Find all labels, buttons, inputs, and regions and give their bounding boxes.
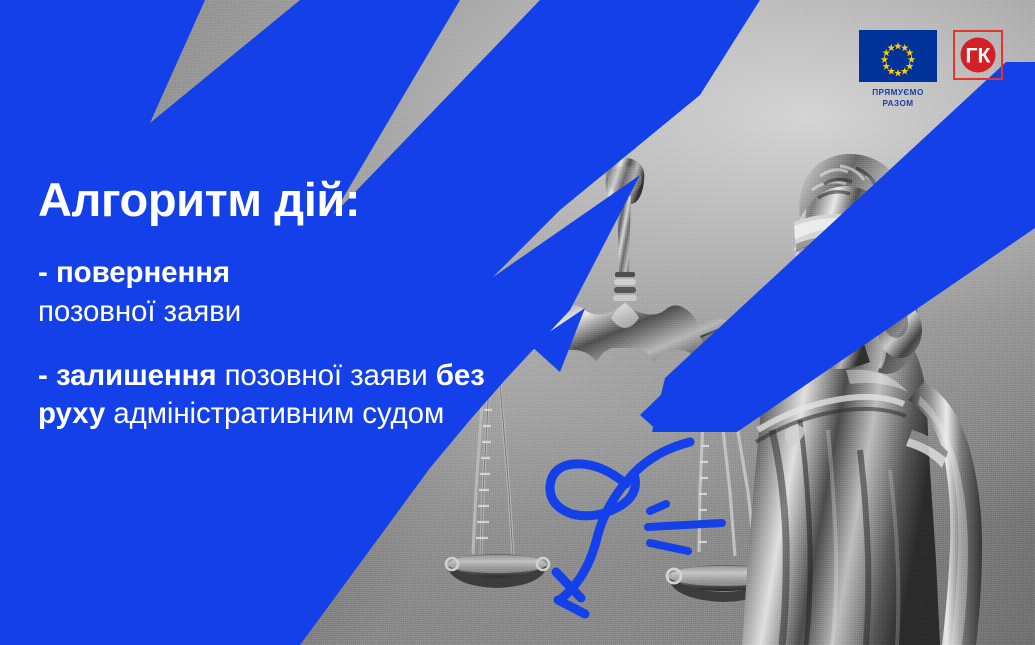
bullet-dash-2: -: [38, 359, 48, 392]
bullet-plain-2a: позовної заяви: [225, 359, 428, 392]
bullet-bold-1: повернення: [56, 256, 230, 289]
bullet-item-1: - повернення позовної заяви: [38, 254, 508, 331]
bullet-dash-1: -: [38, 256, 48, 289]
logo-group: ПРЯМУЄМО РАЗОМ ГК: [859, 30, 1003, 109]
bullet-bold-2a: залишення: [56, 359, 217, 392]
bullet-item-2: - залишення позовної заяви без руху адмі…: [38, 357, 508, 434]
copy-block: Алгоритм дій: - повернення позовної заяв…: [38, 175, 508, 434]
bullet-plain-1: позовної заяви: [38, 295, 241, 328]
blue-band-right-bar: [640, 62, 1035, 432]
gk-logo-icon: ГК: [953, 30, 1003, 80]
gk-logo-letters: ГК: [966, 44, 991, 67]
eu-logo-block: ПРЯМУЄМО РАЗОМ: [859, 30, 937, 109]
poster-canvas: Алгоритм дій: - повернення позовної заяв…: [0, 0, 1035, 645]
european-union-flag-icon: [859, 30, 937, 82]
page-title: Алгоритм дій:: [38, 175, 508, 224]
eu-logo-caption: ПРЯМУЄМО РАЗОМ: [872, 87, 924, 109]
bullet-plain-2b: адміністративним судом: [113, 397, 444, 430]
